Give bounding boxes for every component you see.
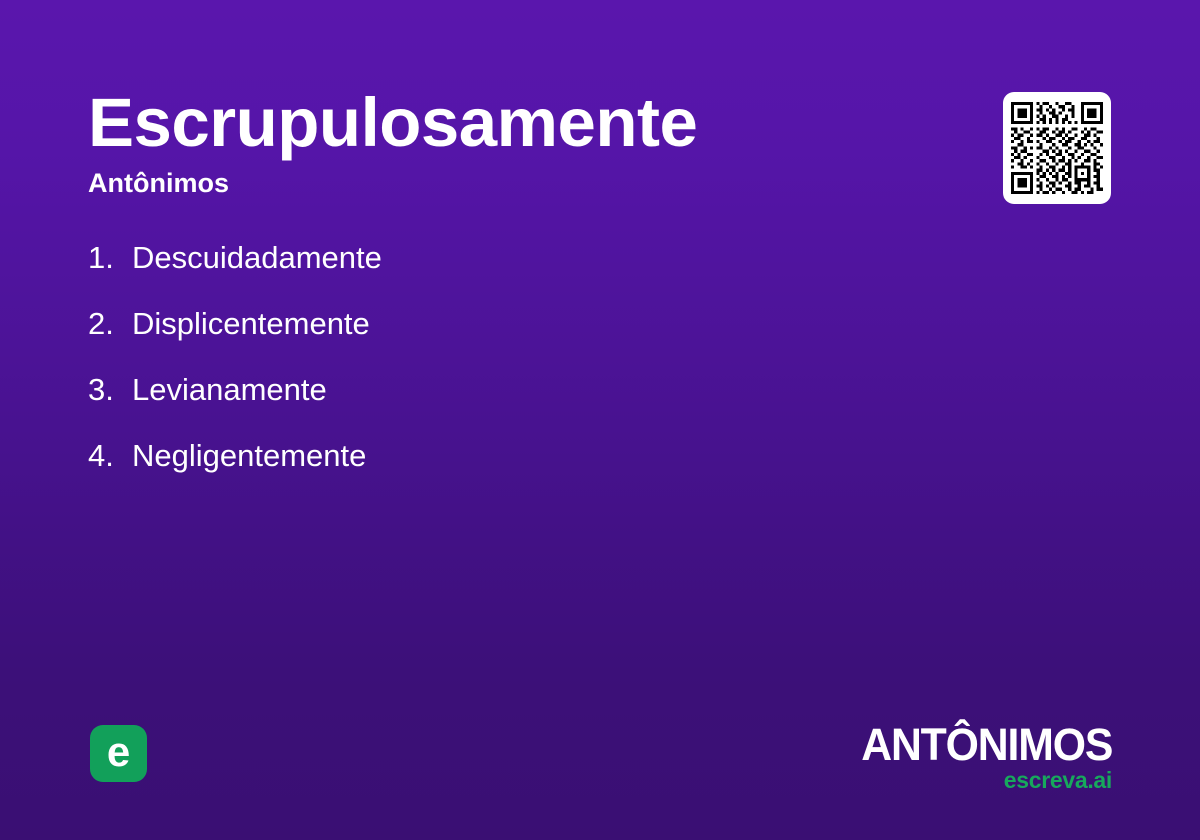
headline-block: Escrupulosamente Antônimos [88,84,948,200]
page-title: Escrupulosamente [88,84,948,162]
list-item: 3. Levianamente [88,370,908,436]
list-item-index: 3. [88,370,132,410]
escreva-e-logo-icon[interactable]: e [90,725,147,782]
antonyms-list: 1. Descuidadamente 2. Displicentemente 3… [88,238,908,502]
antonyms-word-card: Escrupulosamente Antônimos 1. Descuidada… [0,0,1200,840]
list-item-label: Displicentemente [132,304,908,344]
list-item-label: Levianamente [132,370,908,410]
list-item-label: Descuidadamente [132,238,908,278]
list-item: 4. Negligentemente [88,436,908,502]
category-label: Antônimos [88,166,948,200]
list-item-index: 4. [88,436,132,476]
list-item-index: 1. [88,238,132,278]
footer-logo-subtitle: escreva.ai [848,768,1112,792]
qr-code-icon [1011,101,1103,195]
brand-badge-letter: e [107,731,130,773]
list-item: 1. Descuidadamente [88,238,908,304]
footer-logo: ANTÔNIMOS escreva.ai [848,722,1112,792]
qr-code[interactable] [1003,92,1111,204]
list-item-label: Negligentemente [132,436,908,476]
list-item-index: 2. [88,304,132,344]
list-item: 2. Displicentemente [88,304,908,370]
footer-logo-title: ANTÔNIMOS [861,722,1112,767]
